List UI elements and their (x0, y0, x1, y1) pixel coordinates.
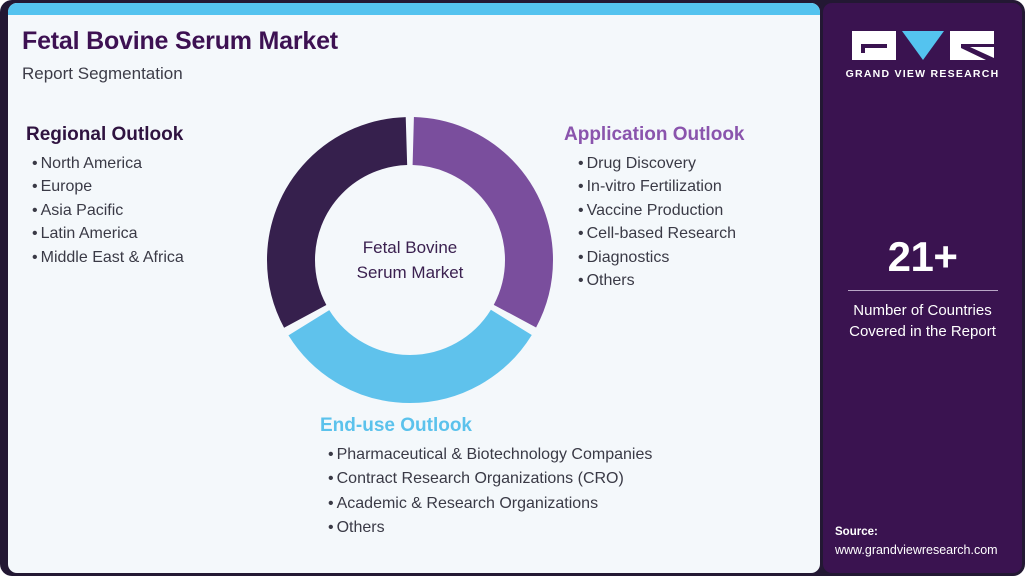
list-item-label: Cell-based Research (587, 225, 736, 242)
list-item: •Diagnostics (564, 246, 745, 270)
list-item-label: Middle East & Africa (41, 249, 184, 266)
logo-v-icon (901, 31, 945, 60)
enduse-outlook-heading: End-use Outlook (320, 415, 652, 438)
list-item-label: Latin America (41, 225, 138, 242)
bullet-icon: • (578, 202, 584, 219)
list-item: •Academic & Research Organizations (320, 492, 652, 517)
list-item-label: Europe (41, 178, 93, 195)
country-count-stat: 21+ Number of Countries Covered in the R… (823, 235, 1022, 342)
list-item: •Cell-based Research (564, 222, 745, 246)
stat-caption-line-2: Covered in the Report (823, 321, 1022, 342)
logo-g-icon (852, 31, 896, 60)
brand-sidebar: GRAND VIEW RESEARCH 21+ Number of Countr… (823, 3, 1022, 573)
bullet-icon: • (578, 178, 584, 195)
page-title: Fetal Bovine Serum Market (22, 27, 338, 56)
source-url[interactable]: www.grandviewresearch.com (835, 541, 1015, 559)
bullet-icon: • (32, 155, 38, 172)
list-item-label: Others (587, 272, 635, 289)
list-item-label: In-vitro Fertilization (587, 178, 722, 195)
stat-number: 21+ (823, 235, 1022, 279)
list-item-label: North America (41, 155, 142, 172)
gvr-logo-wordmark: GRAND VIEW RESEARCH (846, 68, 1000, 80)
application-outlook-heading: Application Outlook (564, 124, 745, 147)
bullet-icon: • (32, 202, 38, 219)
list-item: •Contract Research Organizations (CRO) (320, 467, 652, 492)
list-item-label: Diagnostics (587, 249, 670, 266)
source-label: Source: (835, 524, 1015, 541)
bullet-icon: • (32, 225, 38, 242)
enduse-outlook-block: End-use Outlook •Pharmaceutical & Biotec… (320, 415, 652, 541)
list-item-label: Academic & Research Organizations (337, 495, 598, 512)
top-accent-bar (8, 3, 820, 15)
page-subtitle: Report Segmentation (22, 64, 338, 84)
regional-outlook-block: Regional Outlook •North America •Europe … (26, 124, 184, 269)
list-item: •Middle East & Africa (26, 246, 184, 270)
list-item: •North America (26, 152, 184, 176)
stat-caption: Number of Countries Covered in the Repor… (823, 300, 1022, 342)
list-item-label: Contract Research Organizations (CRO) (337, 470, 624, 487)
logo-r-icon (950, 31, 994, 60)
list-item-label: Drug Discovery (587, 155, 696, 172)
list-item: •Pharmaceutical & Biotechnology Companie… (320, 443, 652, 468)
list-item: •In-vitro Fertilization (564, 175, 745, 199)
list-item-label: Others (337, 519, 385, 536)
bullet-icon: • (578, 155, 584, 172)
content-panel: Fetal Bovine Serum Market Report Segment… (8, 3, 820, 573)
list-item: •Others (564, 269, 745, 293)
header-block: Fetal Bovine Serum Market Report Segment… (22, 27, 338, 83)
list-item: •Europe (26, 175, 184, 199)
gvr-logo: GRAND VIEW RESEARCH (823, 31, 1022, 80)
regional-outlook-list: •North America •Europe •Asia Pacific •La… (26, 152, 184, 270)
stat-caption-line-1: Number of Countries (823, 300, 1022, 321)
list-item: •Latin America (26, 222, 184, 246)
bullet-icon: • (328, 446, 334, 463)
bullet-icon: • (32, 249, 38, 266)
source-block: Source: www.grandviewresearch.com (835, 524, 1015, 559)
list-item: •Vaccine Production (564, 199, 745, 223)
enduse-outlook-list: •Pharmaceutical & Biotechnology Companie… (320, 443, 652, 541)
bullet-icon: • (32, 178, 38, 195)
application-outlook-block: Application Outlook •Drug Discovery •In-… (564, 124, 745, 293)
list-item: •Asia Pacific (26, 199, 184, 223)
bullet-icon: • (578, 272, 584, 289)
application-outlook-list: •Drug Discovery •In-vitro Fertilization … (564, 152, 745, 293)
bullet-icon: • (578, 225, 584, 242)
gvr-logo-marks (852, 31, 994, 60)
list-item: •Drug Discovery (564, 152, 745, 176)
bullet-icon: • (578, 249, 584, 266)
bullet-icon: • (328, 519, 334, 536)
infographic-root: Fetal Bovine Serum Market Report Segment… (0, 0, 1025, 576)
bullet-icon: • (328, 470, 334, 487)
stat-divider (848, 290, 998, 291)
list-item-label: Pharmaceutical & Biotechnology Companies (337, 446, 653, 463)
list-item-label: Asia Pacific (41, 202, 124, 219)
regional-outlook-heading: Regional Outlook (26, 124, 184, 147)
bullet-icon: • (328, 495, 334, 512)
list-item: •Others (320, 516, 652, 541)
list-item-label: Vaccine Production (587, 202, 724, 219)
segmentation-donut-chart: Fetal Bovine Serum Market (266, 116, 554, 404)
donut-svg (266, 116, 554, 404)
